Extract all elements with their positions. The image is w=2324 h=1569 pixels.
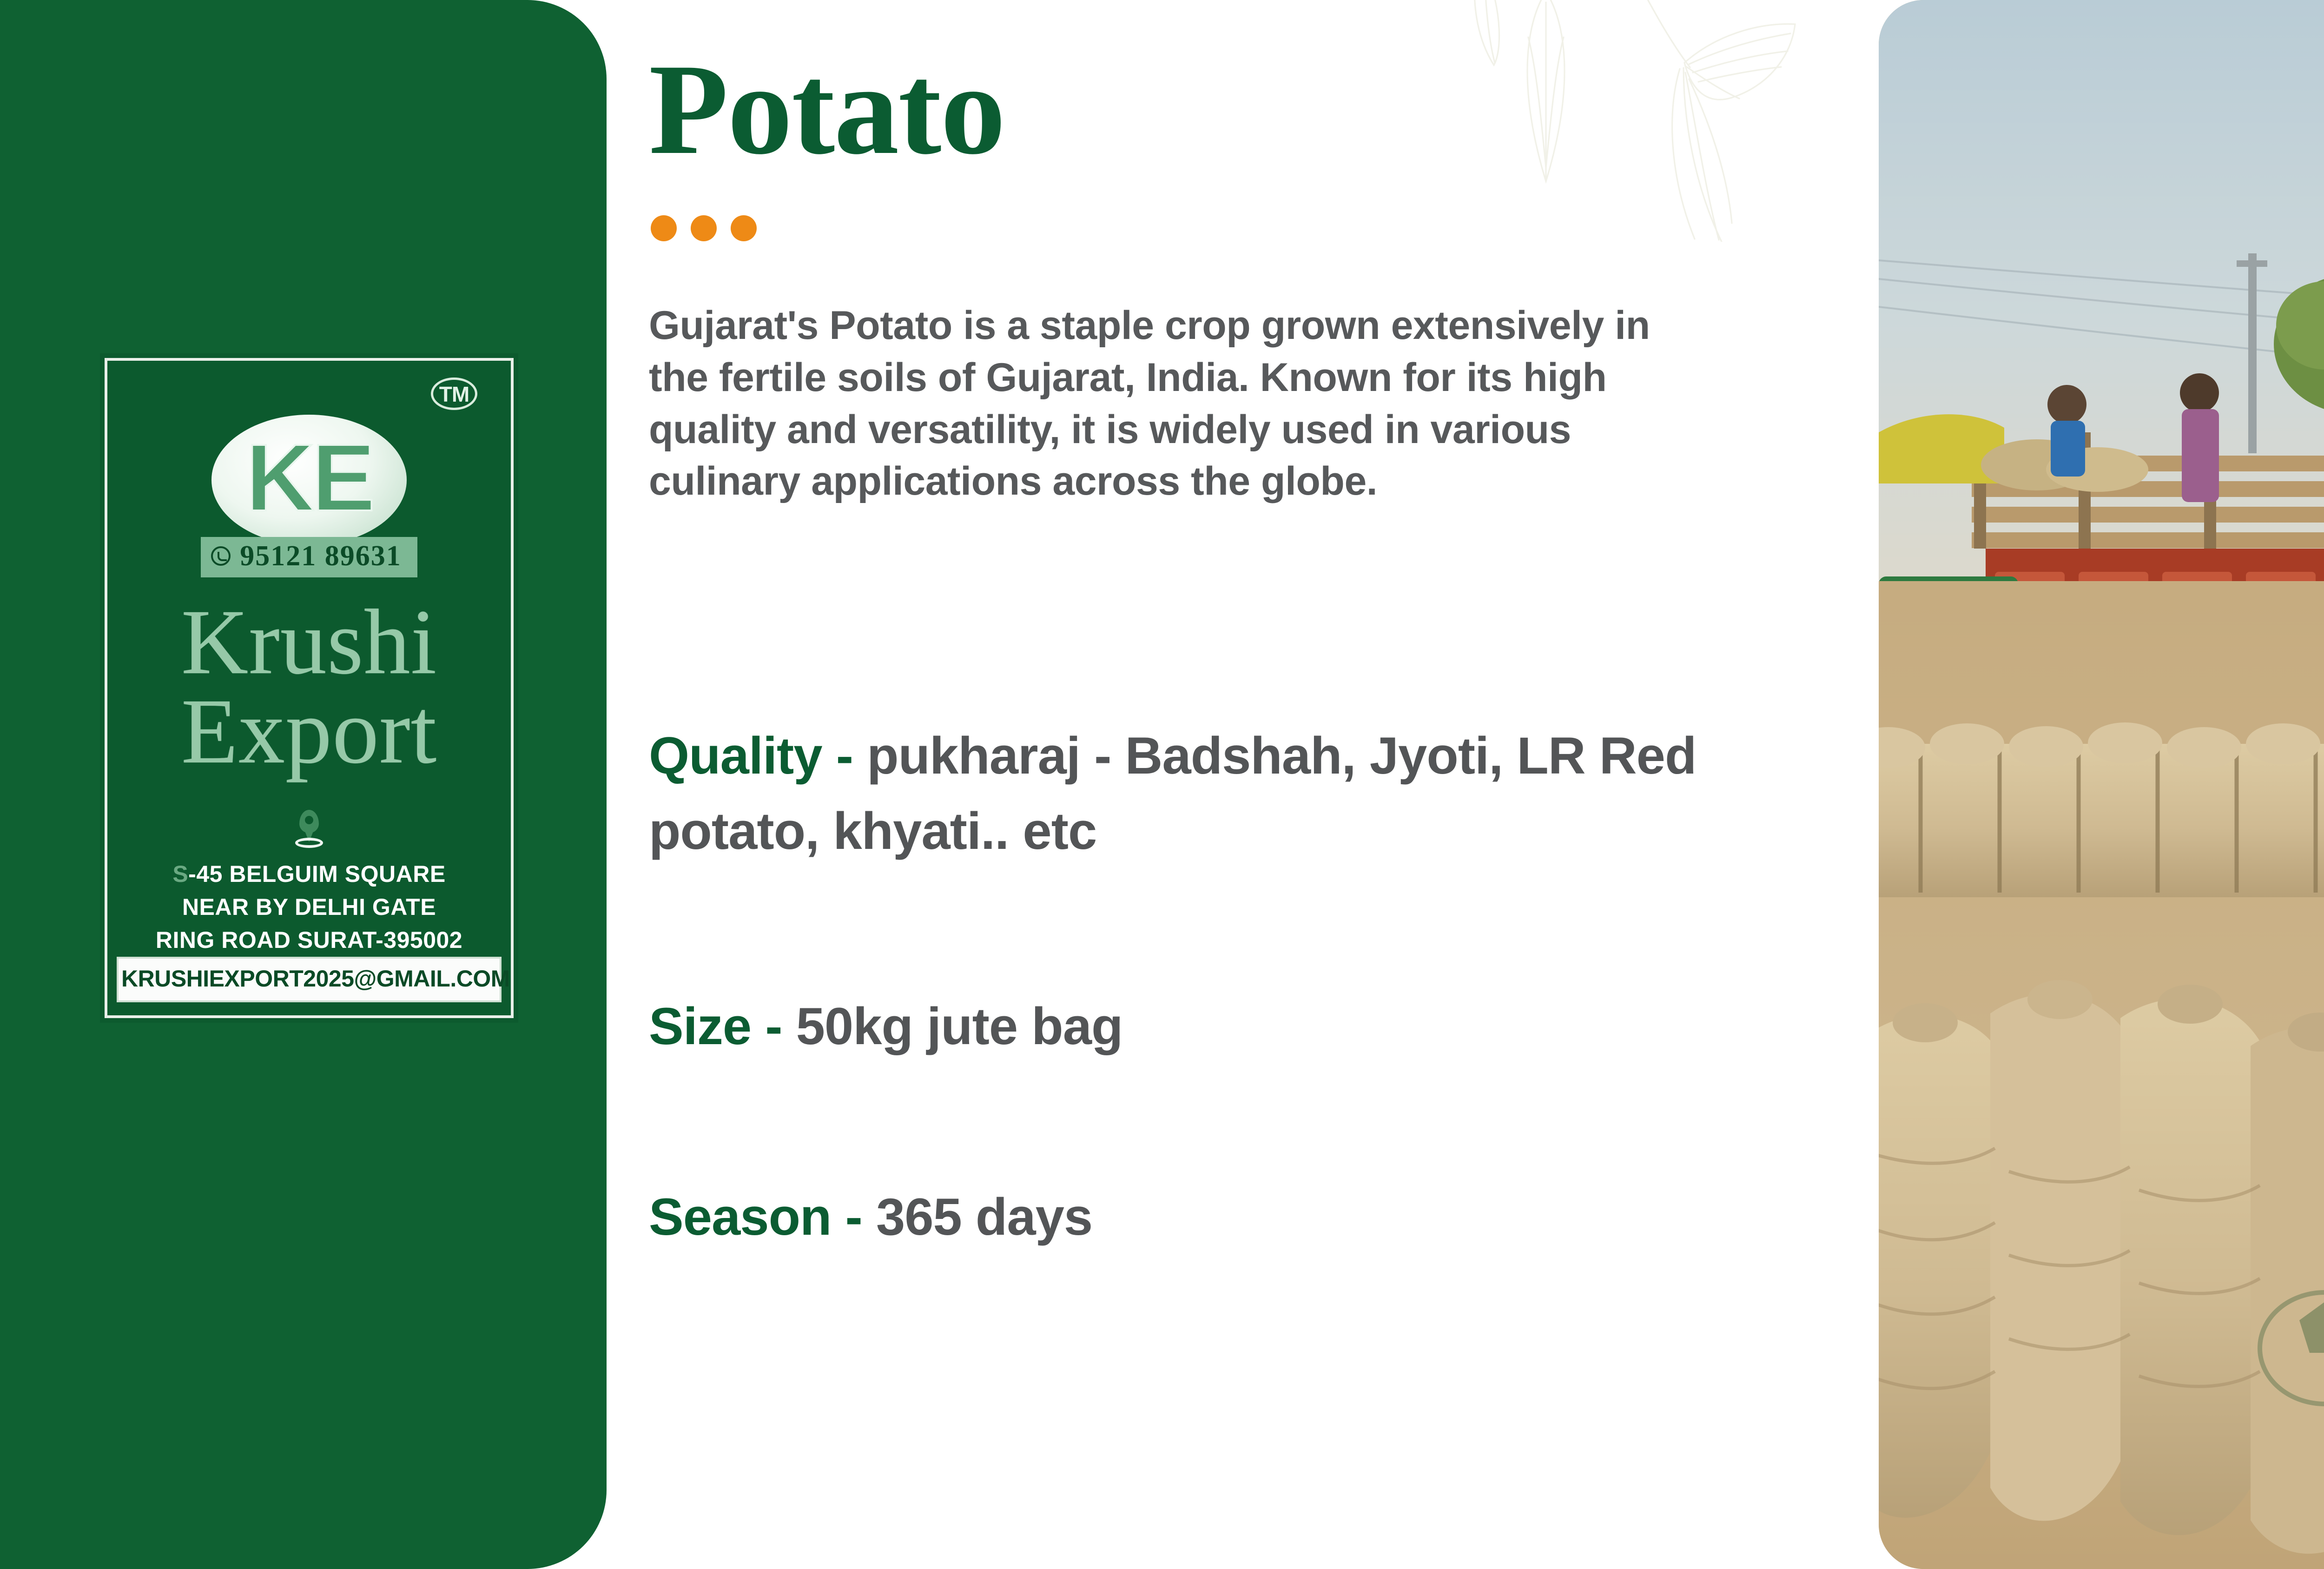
address-line-1: S-45 BELGUIM SQUARE	[156, 858, 462, 891]
photo-illustration	[1879, 0, 2324, 1569]
spec-size-value: 50kg jute bag	[796, 997, 1123, 1055]
dot-3	[731, 215, 757, 241]
phone-number: 95121 89631	[240, 540, 402, 573]
description-paragraph: Gujarat's Potato is a staple crop grown …	[649, 300, 1685, 508]
left-green-panel: TM KE 95121 89631 Krushi Export	[0, 0, 607, 1569]
spec-quality-key: Quality	[649, 727, 822, 785]
trademark-icon: TM	[431, 377, 477, 410]
whatsapp-icon	[211, 546, 231, 566]
spec-size: Size - 50kg jute bag	[649, 993, 1122, 1060]
page-title: Potato	[649, 44, 1005, 174]
spec-season-sep: -	[831, 1188, 876, 1246]
brand-address: S-45 BELGUIM SQUARE NEAR BY DELHI GATE R…	[156, 858, 462, 957]
spec-season: Season - 365 days	[649, 1183, 1092, 1251]
address-line-1-accent: S	[172, 861, 188, 887]
spec-size-key: Size	[649, 997, 751, 1055]
dot-1	[651, 215, 677, 241]
address-line-1-rest: -45 BELGUIM SQUARE	[188, 861, 446, 887]
brand-logo-card: TM KE 95121 89631 Krushi Export	[105, 358, 514, 1018]
dot-2	[691, 215, 717, 241]
product-photo	[1879, 0, 2324, 1569]
brand-line-2: Export	[181, 687, 437, 776]
spec-season-key: Season	[649, 1188, 831, 1246]
address-line-2: NEAR BY DELHI GATE	[156, 891, 462, 924]
brand-email: KRUSHIEXPORT2025@GMAIL.COM	[117, 957, 502, 1002]
slide-canvas: TM KE 95121 89631 Krushi Export	[0, 0, 2324, 1569]
logo-monogram: KE	[246, 430, 373, 525]
logo-oval: KE	[211, 415, 407, 545]
address-line-3: RING ROAD SURAT-395002	[156, 924, 462, 957]
spec-quality: Quality - pukharaj - Badshah, Jyoti, LR …	[649, 718, 1867, 869]
spec-quality-sep: -	[822, 727, 867, 785]
brand-wordmark: Krushi Export	[181, 598, 437, 776]
spec-season-value: 365 days	[876, 1188, 1092, 1246]
spec-size-sep: -	[751, 997, 796, 1055]
phone-band: 95121 89631	[201, 537, 417, 577]
leaf-decoration-icon	[1406, 0, 1825, 242]
decorative-dots	[651, 215, 757, 241]
content-column: Potato Gujarat's Potato is a staple crop…	[649, 0, 1881, 1569]
brand-line-1: Krushi	[181, 591, 437, 694]
location-pin-icon	[295, 810, 323, 846]
